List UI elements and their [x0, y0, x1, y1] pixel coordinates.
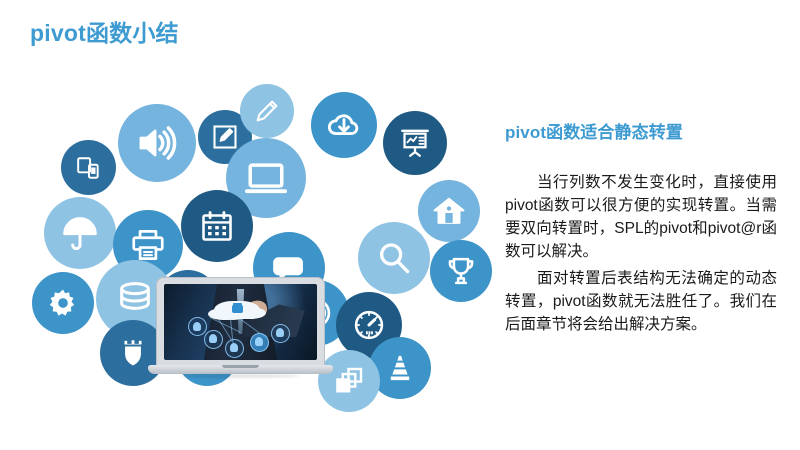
laptop-screen-image: [164, 284, 317, 360]
cloud-download-icon: [311, 92, 377, 158]
umbrella-icon: [44, 197, 116, 269]
slide: pivot函数小结: [0, 0, 800, 450]
pencil-icon: [240, 84, 294, 138]
section-heading: pivot函数适合静态转置: [505, 118, 777, 143]
page-title: pivot函数小结: [30, 14, 179, 48]
paragraph-1: 当行列数不发生变化时，直接使用pivot函数可以很方便的实现转置。当需要双向转置…: [505, 171, 777, 263]
laptop-base: [148, 365, 333, 374]
user-node-icon: [225, 339, 244, 358]
home-icon: [418, 180, 480, 242]
user-node-icon: [271, 324, 290, 343]
calendar-icon: [181, 190, 253, 262]
user-node-icon: [204, 330, 223, 349]
gear-icon: [32, 272, 94, 334]
laptop-photo: [148, 277, 333, 385]
search-icon: [358, 222, 430, 294]
speaker-volume-icon: [118, 104, 196, 182]
presentation-chart-icon: [383, 111, 447, 175]
paragraph-2: 面对转置后表结构无法确定的动态转置，pivot函数就无法胜任了。我们在后面章节将…: [505, 267, 777, 336]
devices-icon: [61, 140, 116, 195]
user-node-icon: [250, 333, 269, 352]
trophy-icon: [430, 240, 492, 302]
laptop-shadow: [180, 374, 300, 378]
cloud-lock-icon: [214, 301, 260, 319]
laptop-lid: [156, 277, 325, 367]
text-column: pivot函数适合静态转置 当行列数不发生变化时，直接使用pivot函数可以很方…: [505, 118, 777, 340]
